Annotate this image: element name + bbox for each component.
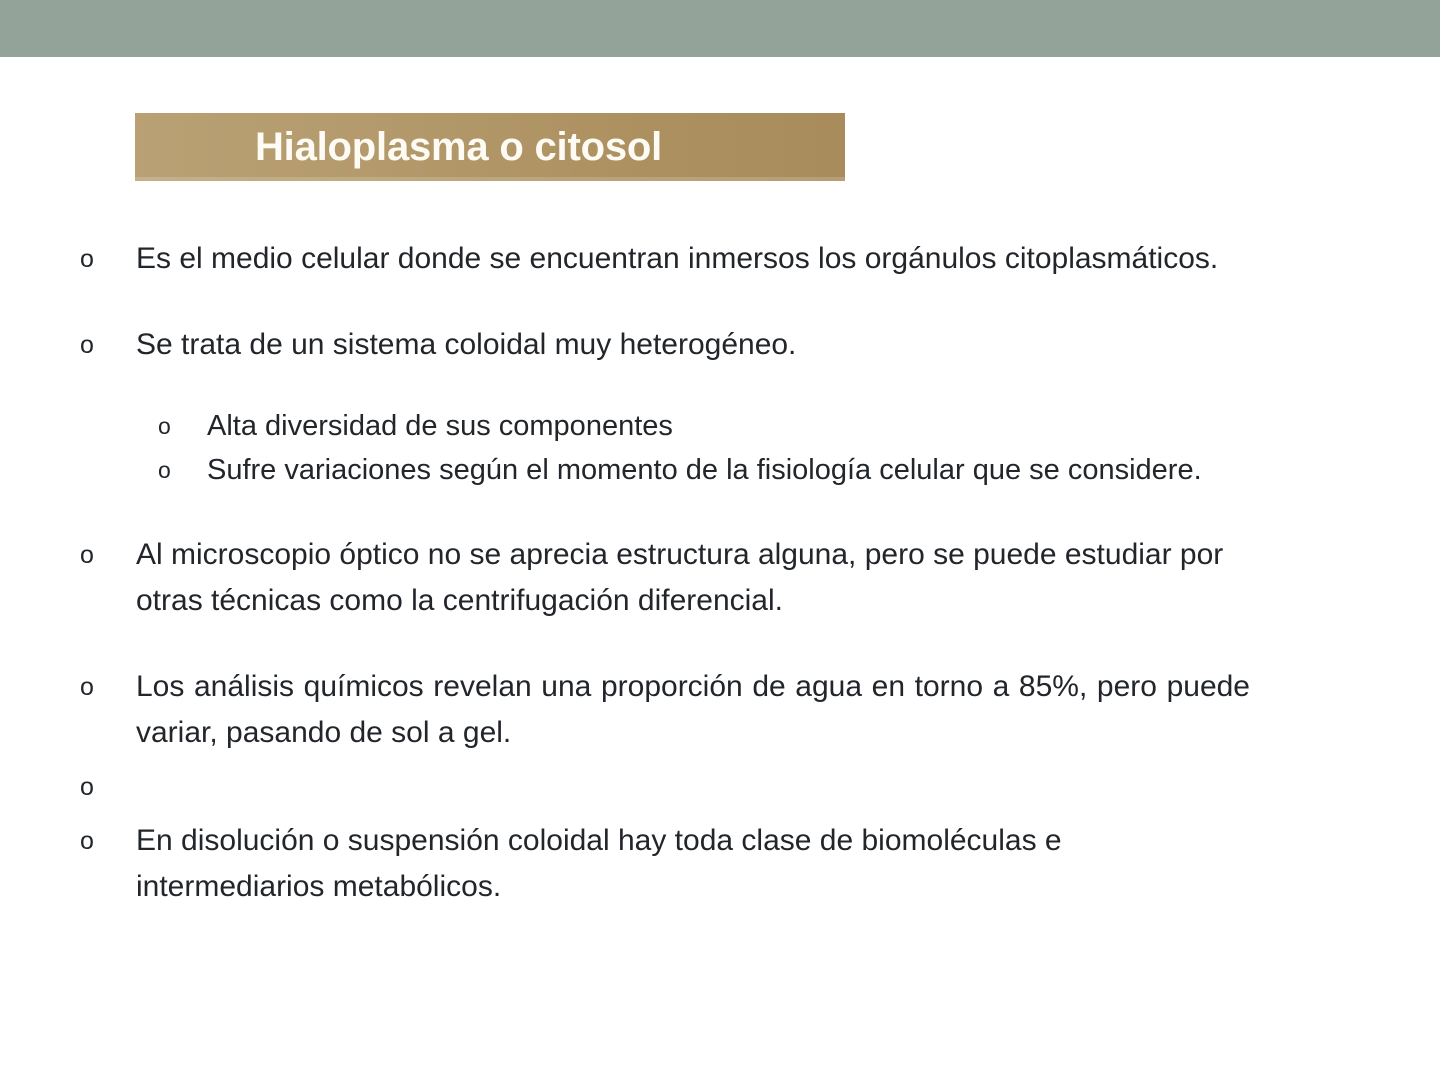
bullet-circle-icon: o — [158, 404, 207, 448]
list-item-text — [136, 764, 1250, 808]
list-item: o Alta diversidad de sus componentes — [0, 404, 1440, 448]
list-item: o En disolución o suspensión coloidal ha… — [0, 818, 1440, 910]
spacer — [0, 756, 1440, 764]
bullet-circle-icon: o — [80, 764, 136, 810]
list-item: o Es el medio celular donde se encuentra… — [0, 236, 1440, 282]
list-item-empty: o — [0, 764, 1440, 810]
list-item-text: En disolución o suspensión coloidal hay … — [136, 818, 1250, 910]
list-item-text: Se trata de un sistema coloidal muy hete… — [136, 322, 1250, 368]
bullet-circle-icon: o — [80, 322, 136, 368]
slide: Hialoplasma o citosol o Es el medio celu… — [0, 0, 1440, 1080]
list-item: o Se trata de un sistema coloidal muy he… — [0, 322, 1440, 368]
top-decorative-band — [0, 0, 1440, 57]
list-item-text: Es el medio celular donde se encuentran … — [136, 236, 1250, 282]
spacer — [0, 282, 1440, 322]
list-item-text: Sufre variaciones según el momento de la… — [207, 448, 1250, 492]
list-item: o Los análisis químicos revelan una prop… — [0, 664, 1440, 756]
list-item-text: Alta diversidad de sus componentes — [207, 404, 1250, 448]
spacer — [0, 624, 1440, 664]
bullet-circle-icon: o — [80, 532, 136, 578]
spacer — [0, 810, 1440, 818]
bullet-circle-icon: o — [158, 448, 207, 492]
slide-body: o Es el medio celular donde se encuentra… — [0, 236, 1440, 910]
list-item-text: Los análisis químicos revelan una propor… — [136, 664, 1250, 756]
list-item: o Sufre variaciones según el momento de … — [0, 448, 1440, 492]
slide-title-plate: Hialoplasma o citosol — [135, 113, 845, 181]
bullet-circle-icon: o — [80, 236, 136, 282]
bullet-circle-icon: o — [80, 818, 136, 864]
spacer — [0, 368, 1440, 404]
page-title: Hialoplasma o citosol — [135, 127, 662, 167]
list-item: o Al microscopio óptico no se aprecia es… — [0, 532, 1440, 624]
spacer — [0, 492, 1440, 532]
list-item-text: Al microscopio óptico no se aprecia estr… — [136, 532, 1250, 624]
bullet-circle-icon: o — [80, 664, 136, 710]
